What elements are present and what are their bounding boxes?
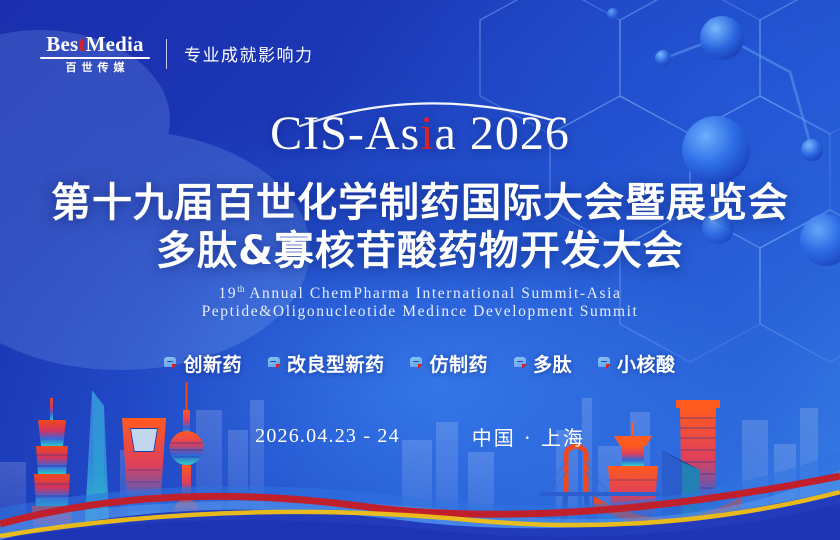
topic-tag[interactable]: 仿制药 [410,350,488,377]
topic-tag[interactable]: 小核酸 [598,350,676,377]
tag-bullet-icon [514,357,528,370]
subtitle-edition-suffix: th [237,285,244,295]
logo-brand-accent: t [78,32,85,56]
topic-tag-label: 改良型新药 [287,350,385,377]
red-sparkle-icon: i [420,107,434,160]
topic-tag[interactable]: 改良型新药 [268,350,385,377]
logo-wordmark: BestMedia [40,33,150,55]
subtitle-edition-number: 19 [219,285,238,302]
topic-tag-label: 小核酸 [617,350,676,377]
topic-tag[interactable]: 创新药 [164,350,242,377]
logo-brand-first: Bes [46,32,78,56]
topic-tag-label: 仿制药 [429,350,488,377]
topic-tag[interactable]: 多肽 [514,350,572,377]
topic-tag-label: 创新药 [183,350,242,377]
subtitle-english-line-2: Peptide&Oligonucleotide Medince Developm… [0,301,840,323]
topic-tag-label: 多肽 [533,350,572,377]
event-title-pre: CIS-As [270,107,420,160]
logo-rule [40,57,150,59]
page-title: CIS-Asia 2026 [0,106,840,162]
event-date: 2026.04.23 - 24 [255,425,400,448]
title-chinese-line-2: 多肽&寡核苷酸药物开发大会 [0,228,840,274]
logo-divider [166,39,167,69]
brand-logo[interactable]: BestMedia 百世传媒 专业成就影响力 [40,33,314,74]
tag-bullet-icon [410,357,424,370]
topic-tag-list: 创新药 改良型新药 仿制药 多肽 小核酸 [0,350,840,377]
tag-bullet-icon [164,357,178,370]
conference-banner: BestMedia 百世传媒 专业成就影响力 CIS-Asia 2026 第十九… [0,0,840,540]
tag-bullet-icon [268,357,282,370]
title-chinese-line-1: 第十九届百世化学制药国际大会暨展览会 [0,180,840,226]
event-venue: 中国 · 上海 [472,422,585,451]
subtitle-edition-rest: Annual ChemPharma International Summit-A… [245,285,622,302]
brand-tagline: 专业成就影响力 [184,41,314,66]
best-media-logo: BestMedia 百世传媒 [40,33,150,74]
tag-bullet-icon [598,357,612,370]
event-meta-row: 2026.04.23 - 24 中国 · 上海 [0,422,840,451]
logo-brand-second: Media [86,32,144,56]
logo-chinese-name: 百世传媒 [40,61,150,74]
event-title-post: a 2026 [435,107,570,160]
